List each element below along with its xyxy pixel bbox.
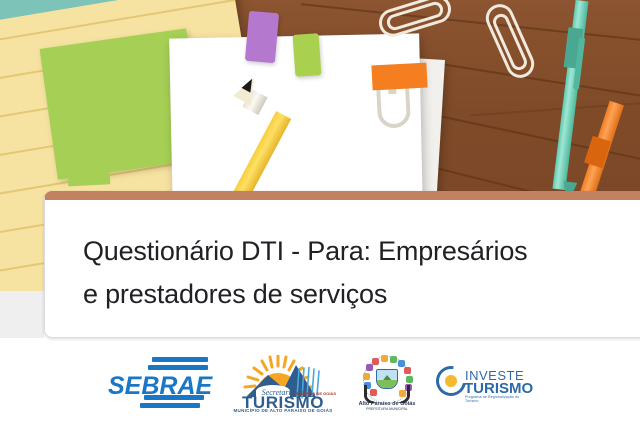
alto-paraiso-de-goias-coat-of-arms: Alto Paraíso de Goiás PREFEITURA MUNICIP… (350, 355, 424, 411)
sebrae-logo: SEBRAE (108, 357, 216, 409)
green-eraser (293, 33, 322, 77)
form-title-card[interactable]: Questionário DTI - Para: Empresários e p… (44, 191, 640, 338)
sebrae-wordmark: SEBRAE (108, 374, 216, 399)
partner-logos-row: SEBRAE (0, 352, 640, 414)
page-left-gutter (0, 291, 44, 338)
purple-eraser (245, 11, 279, 63)
form-page: Questionário DTI - Para: Empresários e p… (0, 0, 640, 426)
turismo-gov-badge: GOVERNO DE GOIÁS (295, 392, 336, 397)
turismo-subtitle: MUNICÍPIO DE ALTO PARAÍSO DE GOIÁS (228, 408, 338, 413)
emblem-caption-sub: PREFEITURA MUNICIPAL (350, 407, 424, 411)
investe-turismo-logo: INVESTE TURISMO Programa de Regionalizaç… (436, 362, 532, 404)
orange-binder-clip (371, 63, 427, 91)
investe-tagline: Programa de Regionalização do Turismo (465, 395, 532, 403)
secretaria-de-turismo-logo: Secretaria de TURISMO GOVERNO DE GOIÁS M… (228, 355, 338, 411)
swirl-center-icon (445, 375, 457, 387)
form-title: Questionário DTI - Para: Empresários e p… (83, 230, 640, 316)
